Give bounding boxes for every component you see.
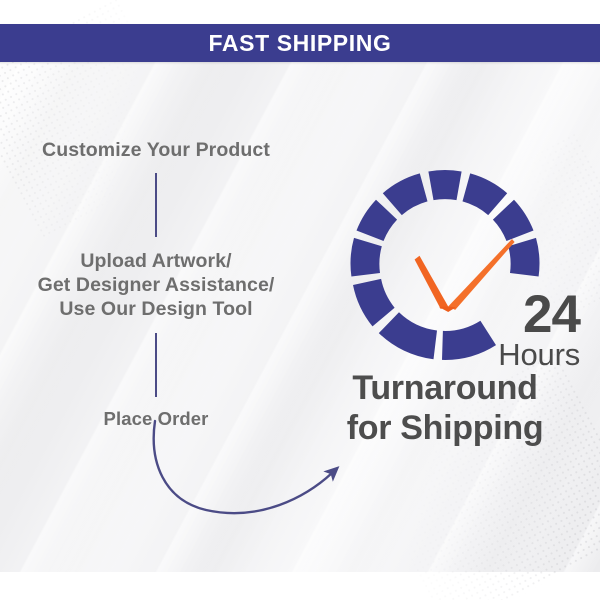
headline-line-1: Turnaround xyxy=(300,368,590,408)
header-banner: FAST SHIPPING xyxy=(0,24,600,62)
turnaround-unit: Hours xyxy=(420,338,580,372)
process-step-upload-artwork: Upload Artwork/ Get Designer Assistance/… xyxy=(0,249,312,321)
banner-title: FAST SHIPPING xyxy=(209,32,392,55)
headline-line-2: for Shipping xyxy=(300,408,590,448)
step-connector-line-2 xyxy=(155,333,157,397)
process-step-customize: Customize Your Product xyxy=(0,138,312,162)
turnaround-headline: Turnaround for Shipping xyxy=(300,368,590,448)
step-connector-line-1 xyxy=(155,173,157,237)
process-step-list: Customize Your Product Upload Artwork/ G… xyxy=(0,138,312,431)
infographic-canvas: FAST SHIPPING Customize Your Product Upl… xyxy=(0,0,600,600)
turnaround-number: 24 xyxy=(420,292,580,338)
turnaround-duration: 24 Hours xyxy=(420,292,580,372)
